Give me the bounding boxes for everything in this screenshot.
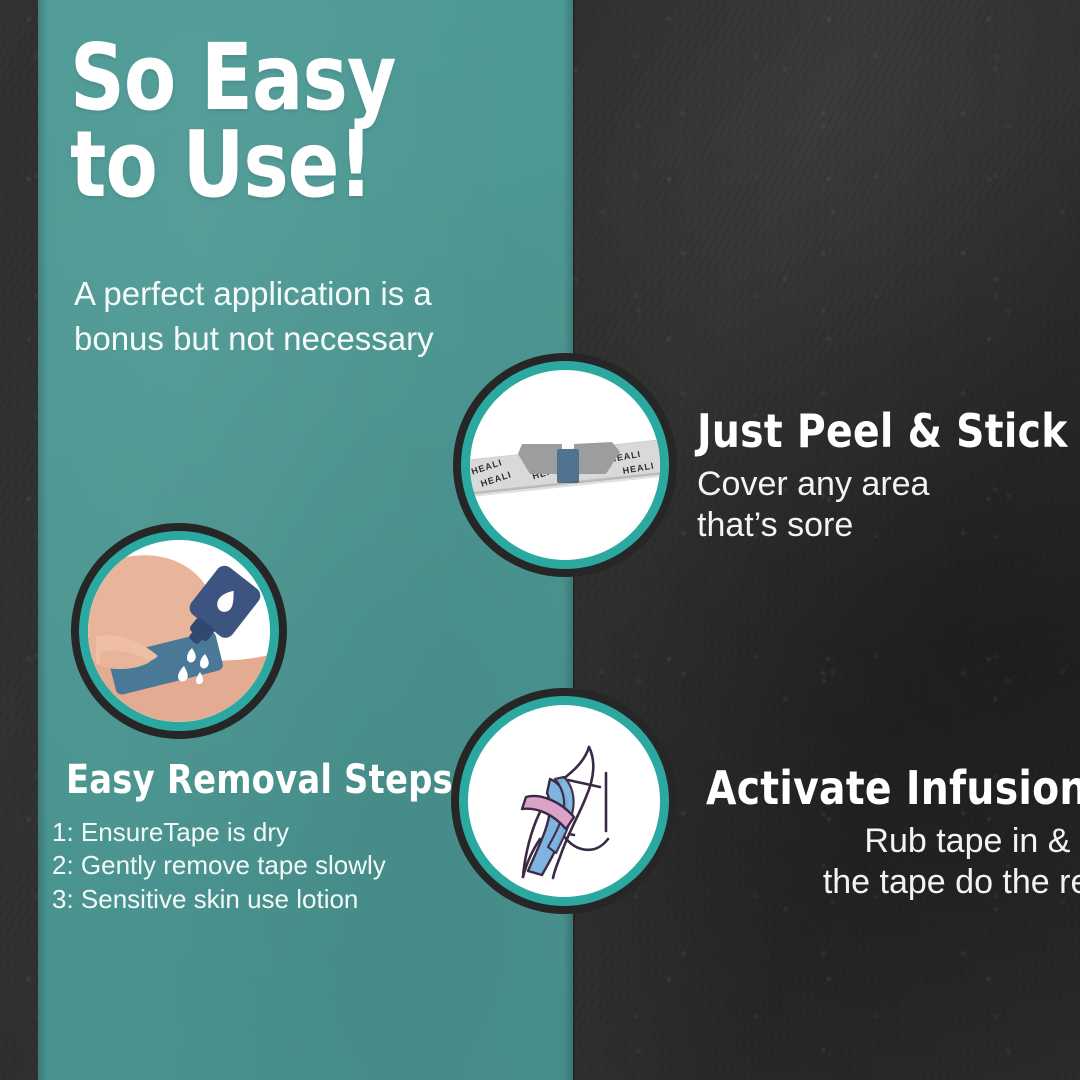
page-title: So Easy to Use! xyxy=(70,34,502,209)
lotion-bottle-on-tape-icon xyxy=(88,540,270,722)
page-subtitle: A perfect application is a bonus but not… xyxy=(74,272,534,361)
page-title-line-2: to Use! xyxy=(70,121,502,208)
list-item: 3: Sensitive skin use lotion xyxy=(52,883,532,916)
easy-removal-steps-list: 1: EnsureTape is dry 2: Gently remove ta… xyxy=(52,816,532,916)
page-subtitle-line-1: A perfect application is a xyxy=(74,272,534,317)
step-peel-body-line-2: that’s sore xyxy=(697,505,1080,546)
badge-easy-removal xyxy=(88,540,270,722)
step-activate-infusion: Activate Infusion Rub tape in & let the … xyxy=(706,765,1080,904)
page-subtitle-line-2: bonus but not necessary xyxy=(74,317,534,362)
page-title-line-1: So Easy xyxy=(70,34,502,121)
easy-removal-steps-title: Easy Removal Steps xyxy=(66,757,453,803)
step-peel-title: Just Peel & Stick xyxy=(697,408,1068,454)
list-item: 2: Gently remove tape slowly xyxy=(52,849,532,882)
step-peel-body: Cover any area that’s sore xyxy=(697,464,1080,547)
step-infuse-body-line-2: the tape do the rest xyxy=(706,862,1080,903)
step-infuse-body-line-1: Rub tape in & let xyxy=(706,821,1080,862)
step-infuse-body: Rub tape in & let the tape do the rest xyxy=(706,821,1080,904)
badge-peel-and-stick: HEALI HEALI HEALI HEALI HEALI HEALI xyxy=(470,370,660,560)
step-peel-body-line-1: Cover any area xyxy=(697,464,1080,505)
poster-canvas: So Easy to Use! A perfect application is… xyxy=(0,0,1080,1080)
list-item: 1: EnsureTape is dry xyxy=(52,816,532,849)
step-peel-and-stick: Just Peel & Stick Cover any area that’s … xyxy=(697,408,1080,547)
tape-peel-backing-icon: HEALI HEALI HEALI HEALI HEALI HEALI xyxy=(470,370,660,560)
step-infuse-title: Activate Infusion xyxy=(706,765,1080,811)
